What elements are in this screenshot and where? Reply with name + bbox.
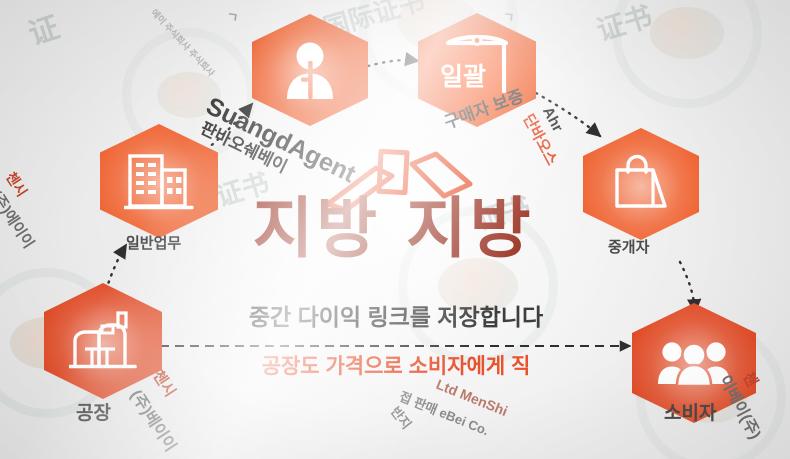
- node-broker[interactable]: [583, 128, 699, 240]
- factory-icon: [69, 311, 137, 371]
- node-guarantee-badge: 일괄: [440, 57, 486, 93]
- node-office[interactable]: [100, 124, 218, 238]
- node-broker-caption: 중개자: [608, 236, 649, 257]
- tagline: 중간 다이익 링크를 저장합니다: [196, 298, 596, 332]
- edge-agent-to-guarantee: [368, 60, 418, 66]
- diagram-canvas: 证 中国际证书 证书 国际证书 证书 国际: [0, 0, 790, 459]
- watermark-text: 证: [22, 2, 64, 53]
- shopping-bag-icon: [609, 154, 673, 214]
- office-building-icon: [124, 150, 194, 212]
- edge-label-top-wm2: ㄱ: [225, 6, 239, 26]
- node-consumer-caption: 소비자: [664, 398, 716, 425]
- watermark-text: 证书: [591, 0, 656, 49]
- person-icon: [280, 39, 340, 101]
- edge-label-top-wm3: ㄱ: [501, 6, 515, 26]
- brand-logo: 지방 지방: [228, 148, 558, 288]
- edge-label-bottomleft-gray: (주)베이이: [126, 384, 184, 455]
- edge-label-top-wm1: 에이 주식회사 주식회사: [148, 6, 217, 79]
- edge-factory-to-office: [106, 245, 126, 290]
- node-factory[interactable]: [44, 283, 162, 399]
- subline: 공장도 가격으로 소비자에게 직: [196, 350, 596, 380]
- watermark-ring: [612, 0, 762, 108]
- node-office-caption: 일반업무: [126, 232, 181, 253]
- brand-logo-text: 지방 지방: [228, 196, 558, 262]
- node-agent[interactable]: [252, 14, 368, 126]
- node-factory-caption: 공장: [76, 398, 111, 425]
